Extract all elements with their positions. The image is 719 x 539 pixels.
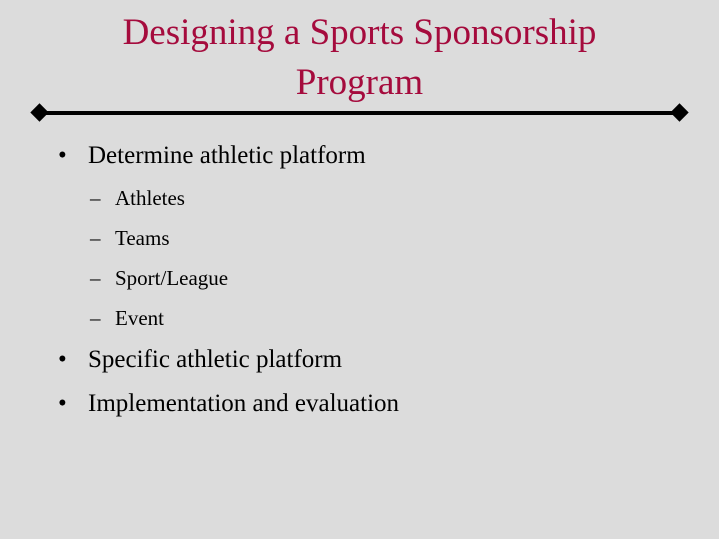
list-item-label: Implementation and evaluation bbox=[88, 390, 399, 417]
list-item-label: Event bbox=[115, 306, 164, 330]
bullet-marker-dot: • bbox=[58, 382, 80, 426]
title-line-2: Program bbox=[40, 58, 679, 108]
bullet-marker-dot: • bbox=[58, 338, 80, 382]
bullet-marker-dash: – bbox=[90, 178, 114, 218]
title-line-1: Designing a Sports Sponsorship bbox=[40, 8, 679, 58]
bullet-marker-dash: – bbox=[90, 298, 114, 338]
bullet-marker-dash: – bbox=[90, 218, 114, 258]
list-item-label: Athletes bbox=[115, 186, 185, 210]
list-item: – Event bbox=[0, 298, 719, 338]
list-item-label: Sport/League bbox=[115, 266, 228, 290]
list-item-label: Determine athletic platform bbox=[88, 142, 366, 169]
title-divider bbox=[32, 104, 688, 122]
list-item: • Specific athletic platform bbox=[0, 338, 719, 382]
list-item: – Sport/League bbox=[0, 258, 719, 298]
list-item: – Teams bbox=[0, 218, 719, 258]
diamond-icon-right bbox=[670, 103, 688, 121]
page-title: Designing a Sports Sponsorship Program bbox=[40, 8, 679, 108]
list-item-label: Teams bbox=[115, 226, 170, 250]
list-item-label: Specific athletic platform bbox=[88, 346, 342, 373]
list-item: – Athletes bbox=[0, 178, 719, 218]
list-item: • Determine athletic platform bbox=[0, 134, 719, 178]
bullet-list: • Determine athletic platform – Athletes… bbox=[0, 134, 719, 426]
slide-canvas: Designing a Sports Sponsorship Program •… bbox=[0, 0, 719, 539]
divider-rule bbox=[40, 111, 680, 115]
bullet-marker-dot: • bbox=[58, 134, 80, 178]
bullet-marker-dash: – bbox=[90, 258, 114, 298]
list-item: • Implementation and evaluation bbox=[0, 382, 719, 426]
